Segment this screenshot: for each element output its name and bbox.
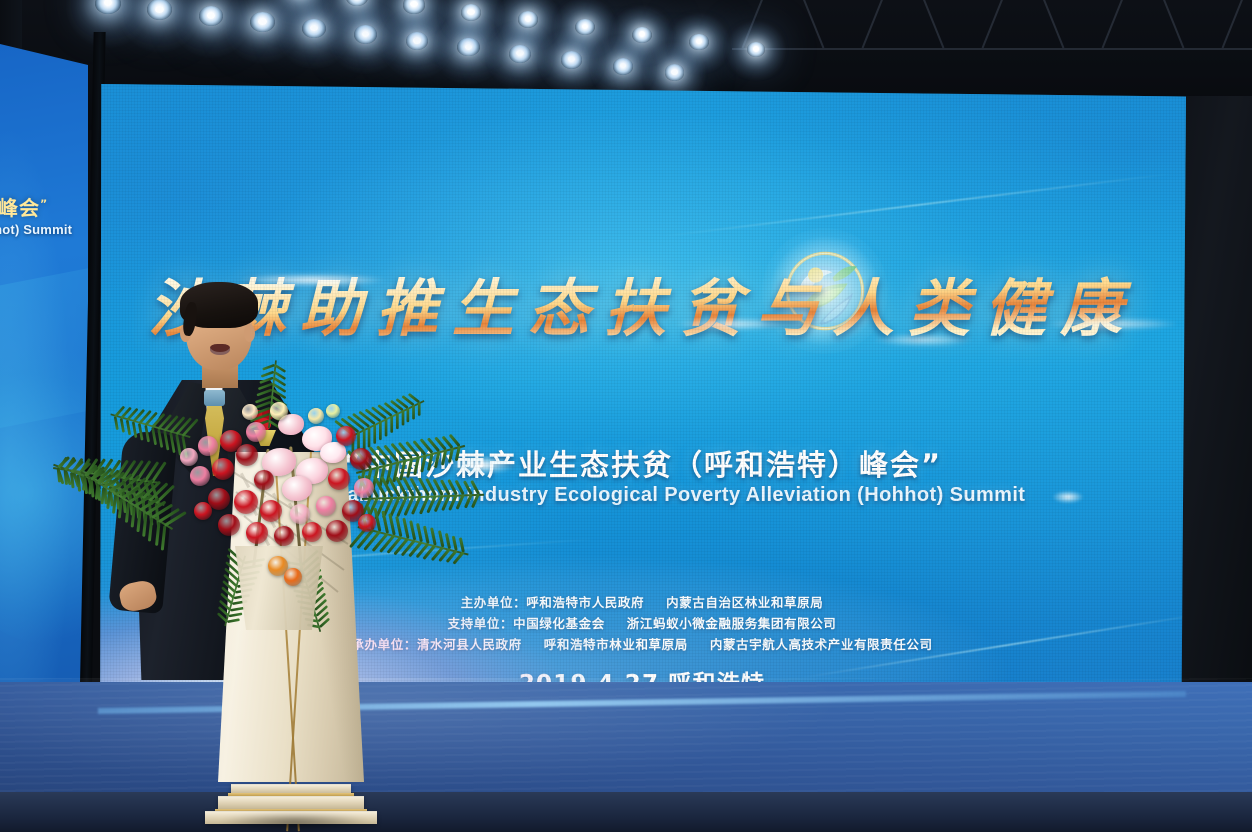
flower-bloom <box>234 490 258 514</box>
spotlight-fixture <box>354 25 377 44</box>
spotlight-fixture <box>632 27 652 43</box>
frond-leaflet <box>396 413 399 429</box>
spotlight-fixture <box>95 0 121 14</box>
spotlight-fixture <box>302 19 326 39</box>
ear-right <box>244 324 255 342</box>
frond-leaflet <box>412 405 415 419</box>
frond-leaflet <box>229 612 243 617</box>
frond-leaflet <box>401 410 404 426</box>
side-panel-swoosh <box>0 344 88 644</box>
flower-arrangement <box>150 396 420 626</box>
frond-leaflet <box>230 606 245 611</box>
flower-bloom <box>284 568 302 586</box>
spotlight-fixture <box>199 6 224 26</box>
spotlight-fixture <box>575 19 595 35</box>
flower-bloom <box>236 444 258 466</box>
spotlight-fixture <box>403 0 424 14</box>
flower-bloom <box>242 404 258 420</box>
flower-bloom <box>270 402 288 420</box>
frond-leaflet <box>63 470 68 486</box>
speaker-mouth <box>210 344 230 355</box>
flower-bloom <box>198 436 218 456</box>
spotlight-fixture <box>346 0 368 6</box>
frond-leaflet <box>368 427 371 447</box>
flower-bloom <box>308 408 324 424</box>
frond-leaflet <box>161 525 167 550</box>
spotlight-fixture <box>518 11 538 28</box>
stage-photo-scene: 峰会” hhot) Summit <box>0 0 1252 832</box>
side-panel-en-text: hhot) Summit <box>0 222 72 237</box>
frond-leaflet <box>385 418 388 436</box>
flower-bloom <box>358 514 376 532</box>
flower-bloom <box>326 404 340 418</box>
frond-leaflet <box>157 429 163 448</box>
frond-leaflet <box>148 518 153 542</box>
flower-bloom <box>194 502 212 520</box>
side-panel-quote-mark: ” <box>40 197 48 210</box>
side-panel-cn-text: 峰会” <box>0 192 48 221</box>
frond-leaflet <box>151 427 157 446</box>
spotlight-fixture <box>665 64 685 80</box>
lectern-floor-shadow <box>190 810 400 832</box>
spotlight-fixture <box>509 45 531 63</box>
flower-bloom <box>246 522 268 544</box>
speaker-hair <box>180 282 258 328</box>
frond-leaflet <box>418 402 421 415</box>
frond-leaflet <box>163 430 169 450</box>
flower-bloom <box>350 448 372 470</box>
flower-bloom <box>218 514 240 536</box>
flower-bloom <box>302 522 322 542</box>
flower-bloom <box>212 458 234 480</box>
spotlight-fixture <box>250 12 274 32</box>
spotlight-fixture <box>561 51 582 68</box>
truss-structure <box>732 0 1252 80</box>
frond-leaflet <box>154 521 160 546</box>
frond-leaflet <box>169 432 175 453</box>
flower-bloom <box>326 520 348 542</box>
spotlight-fixture <box>689 34 708 50</box>
frond-leaflet <box>409 520 416 540</box>
frond-leaflet <box>70 472 75 488</box>
flower-bloom <box>354 478 374 498</box>
flower-bloom <box>316 496 336 516</box>
frond-leaflet <box>76 474 81 491</box>
frond-leaflet <box>407 408 410 423</box>
frond-leaflet <box>374 424 377 444</box>
lily-bloom <box>282 476 312 501</box>
flower-bloom <box>274 526 294 546</box>
spotlight-fixture <box>613 58 634 75</box>
spotlight-fixture <box>147 0 172 20</box>
flower-bloom <box>290 504 310 524</box>
flower-bloom <box>246 422 266 442</box>
flower-bloom <box>190 466 210 486</box>
flower-bloom <box>336 426 356 446</box>
spotlight-fixture <box>457 38 479 56</box>
side-led-panel: 峰会” hhot) Summit <box>0 44 88 744</box>
side-panel-cn-fragment: 峰会 <box>0 196 40 220</box>
frond-leaflet <box>395 515 402 537</box>
flower-bloom <box>328 468 350 490</box>
palm-frond <box>345 399 424 440</box>
frond-leaflet <box>390 416 393 433</box>
frond-leaflet <box>227 618 240 623</box>
flower-bloom <box>254 470 274 490</box>
flower-bloom <box>180 448 198 466</box>
stage-front-edge <box>0 792 1252 832</box>
flower-bloom <box>260 500 282 522</box>
frond-leaflet <box>379 421 382 440</box>
spotlight-fixture <box>461 4 482 21</box>
frond-leaflet <box>402 518 409 539</box>
spotlight-fixture <box>406 32 429 51</box>
